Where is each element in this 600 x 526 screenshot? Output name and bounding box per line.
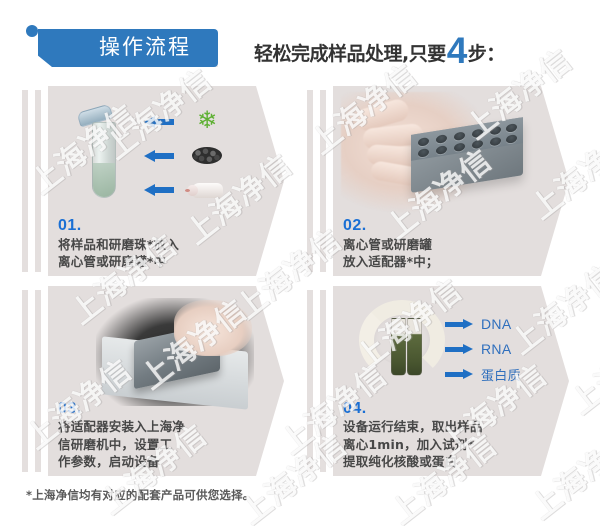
step-text-02: 02. 离心管或研磨罐 放入适配器*中； [343,216,558,270]
arrow-left-icon [144,116,174,127]
card-accent-bar-inner [320,290,326,472]
page-title: 轻松完成样品处理,只要 4 步： [254,33,505,66]
output-label: 蛋白质 [481,365,521,384]
step-text-03: 03. 将适配器安装入上海净 信研磨机中，设置工 作参数，启动设备 [58,399,273,470]
step-description: 离心管或研磨罐 放入适配器*中； [343,236,558,271]
output-label: RNA [481,341,511,357]
step-line: 将样品和研磨珠*放入 [58,236,273,253]
sample-vial-icon [391,318,406,376]
step-text-04: 04. 设备运行结束，取出样品 离心1min，加入试剂* 提取纯化核酸或蛋白 [343,399,558,470]
grinder-machine-icon [96,298,254,406]
page-title-suffix: 步： [468,39,505,66]
card-accent-bar-outer [22,90,28,272]
page-header: 操作流程 轻松完成样品处理,只要 4 步： [0,0,600,86]
step-line: 将适配器安装入上海净 [58,418,273,435]
step-number: 02. [343,216,558,235]
step-description: 将适配器安装入上海净 信研磨机中，设置工 作参数，启动设备 [58,418,273,470]
output-row-dna: DNA [445,314,511,334]
output-label: DNA [481,316,511,332]
card-accent-bar-inner [320,90,326,272]
centrifuge-tube-icon [90,108,118,200]
card-accent-bar-outer [307,90,313,272]
step-text-01: 01. 将样品和研磨珠*放入 离心管或研磨罐*中 [58,216,273,270]
sample-row-mouse [144,176,264,202]
sample-vial-icon [407,318,422,376]
mouse-icon [190,176,224,202]
grinding-beads-icon [190,142,224,168]
card-accent-bar-inner [35,290,41,472]
hand-icon [174,300,252,356]
arrow-left-icon [144,150,174,161]
step-description: 将样品和研磨珠*放入 离心管或研磨罐*中 [58,236,273,271]
output-row-protein: 蛋白质 [445,364,521,384]
step-card-02: 02. 离心管或研磨罐 放入适配器*中； [307,86,592,276]
step-line: 放入适配器*中； [343,253,558,270]
step-line: 离心管或研磨罐 [343,236,558,253]
ribbon-label: 操作流程 [80,30,210,64]
arrow-right-icon [445,319,473,330]
footer-note: *上海净信均有对应的配套产品可供您选择。 [26,487,255,503]
step-card-03: 03. 将适配器安装入上海净 信研磨机中，设置工 作参数，启动设备 [22,286,307,476]
sample-row-beads [144,142,264,168]
step-number: 04. [343,399,558,418]
steps-grid: ❄ 01. 将样品和研磨珠*放入 离心管或研磨罐*中 [0,86,600,486]
step-line: 提取纯化核酸或蛋白 [343,453,558,470]
step-line: 设备运行结束，取出样品 [343,418,558,435]
step-line: 作参数，启动设备 [58,453,273,470]
card-accent-bar-outer [22,290,28,472]
page-title-prefix: 轻松完成样品处理,只要 [254,39,446,66]
step-line: 离心管或研磨罐*中 [58,253,273,270]
arrow-right-icon [445,344,473,355]
arrow-left-icon [144,184,174,195]
sample-row-leaf: ❄ [144,108,264,134]
step-number: 01. [58,216,273,235]
step-card-01: ❄ 01. 将样品和研磨珠*放入 离心管或研磨罐*中 [22,86,307,276]
step-description: 设备运行结束，取出样品 离心1min，加入试剂* 提取纯化核酸或蛋白 [343,418,558,470]
arrow-right-icon [445,369,473,380]
output-row-rna: RNA [445,339,511,359]
step-card-04: DNA RNA 蛋白质 04. 设备运行结束，取出样品 离心1min，加入试剂* [307,286,592,476]
step-line: 离心1min，加入试剂* [343,436,558,453]
card-accent-bar-outer [307,290,313,472]
leaf-icon: ❄ [190,108,224,134]
step-number: 03. [58,399,273,418]
card-accent-bar-inner [35,90,41,272]
page-title-step-count: 4 [447,36,467,66]
step-line: 信研磨机中，设置工 [58,436,273,453]
ribbon-dot-icon [26,25,38,37]
